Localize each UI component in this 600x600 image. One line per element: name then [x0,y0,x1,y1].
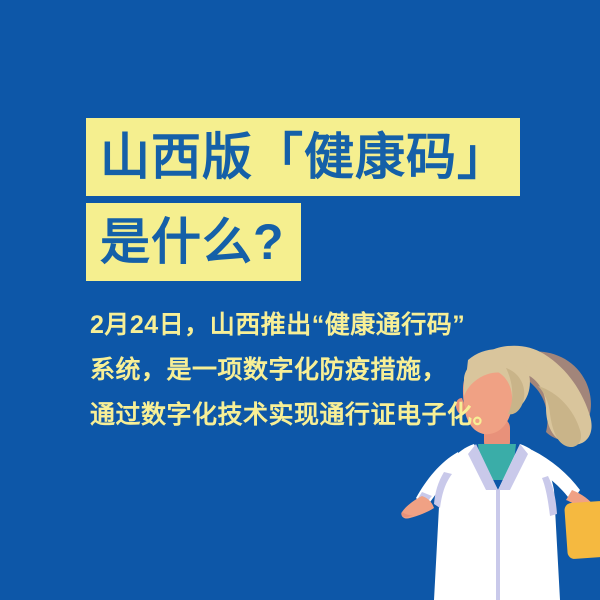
body-line-3: 通过数字化技术实现通行证电子化。 [90,393,520,438]
left-hand [401,496,434,519]
hair-back [508,351,591,440]
shirt [478,444,516,480]
body-block: 2月24日，山西推出“健康通行码” 系统，是一项数字化防疫措施， 通过数字化技术… [90,303,520,438]
body-line-2: 系统，是一项数字化防疫措施， [90,348,520,393]
title-block: 山西版「健康码」 是什么? [86,118,526,281]
poster-canvas: 山西版「健康码」 是什么? 2月24日，山西推出“健康通行码” 系统，是一项数字… [0,0,600,600]
yellow-folder [564,500,600,559]
lab-coat [414,444,580,600]
right-hand [566,490,594,514]
body-line-1: 2月24日，山西推出“健康通行码” [90,303,520,348]
title-line-2: 是什么? [86,203,301,281]
title-line-1: 山西版「健康码」 [86,118,520,196]
